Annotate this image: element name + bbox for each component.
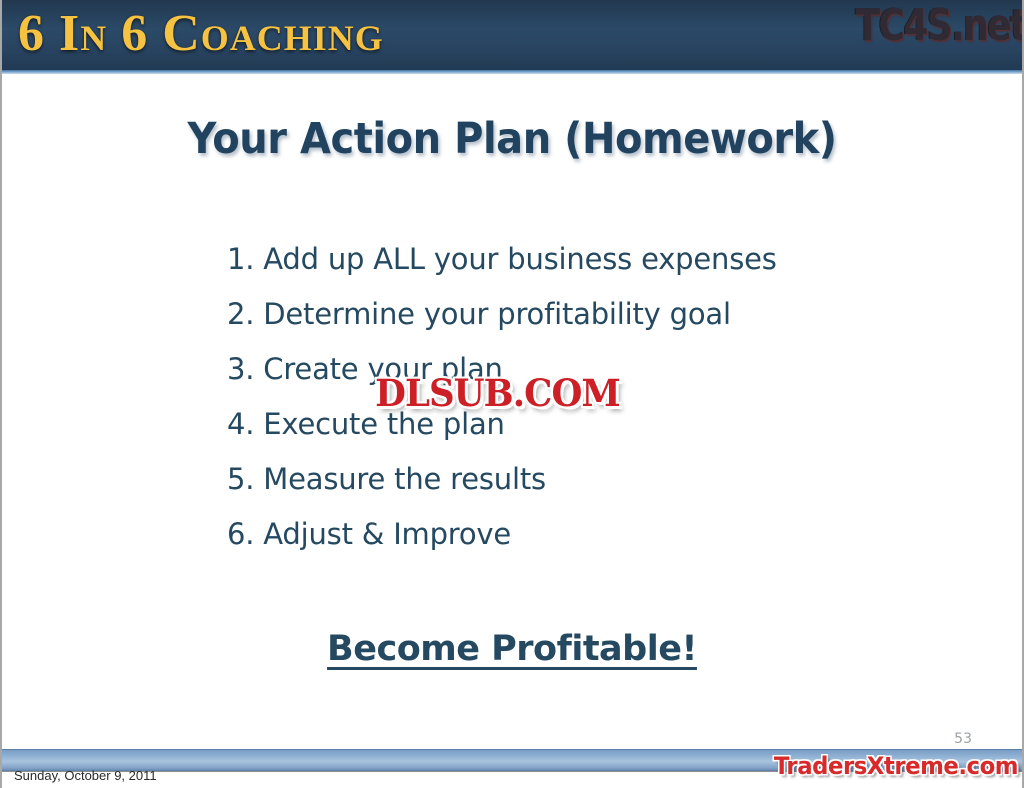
footer-date: Sunday, October 9, 2011 [14, 768, 157, 783]
brand-title: 6 In 6 Coaching [18, 2, 384, 66]
slide-number: 53 [954, 731, 972, 747]
page-title: Your Action Plan (Homework) [38, 114, 987, 164]
tc4s-logo: TC4S.net [856, 0, 1024, 56]
list-item: 1. Add up ALL your business expenses [227, 232, 777, 287]
list-item: 6. Adjust & Improve [227, 507, 777, 562]
presentation-slide: 6 In 6 Coaching TC4S.net Your Action Pla… [0, 0, 1024, 788]
tradersxtreme-logo: TradersXtreme.com [774, 752, 1018, 780]
closing-statement: Become Profitable! [2, 629, 1022, 669]
list-item: 2. Determine your profitability goal [227, 287, 777, 342]
list-item: 5. Measure the results [227, 452, 777, 507]
header-banner: 6 In 6 Coaching TC4S.net [0, 0, 1024, 70]
dlsub-watermark: DLSUB.COM [375, 371, 620, 415]
